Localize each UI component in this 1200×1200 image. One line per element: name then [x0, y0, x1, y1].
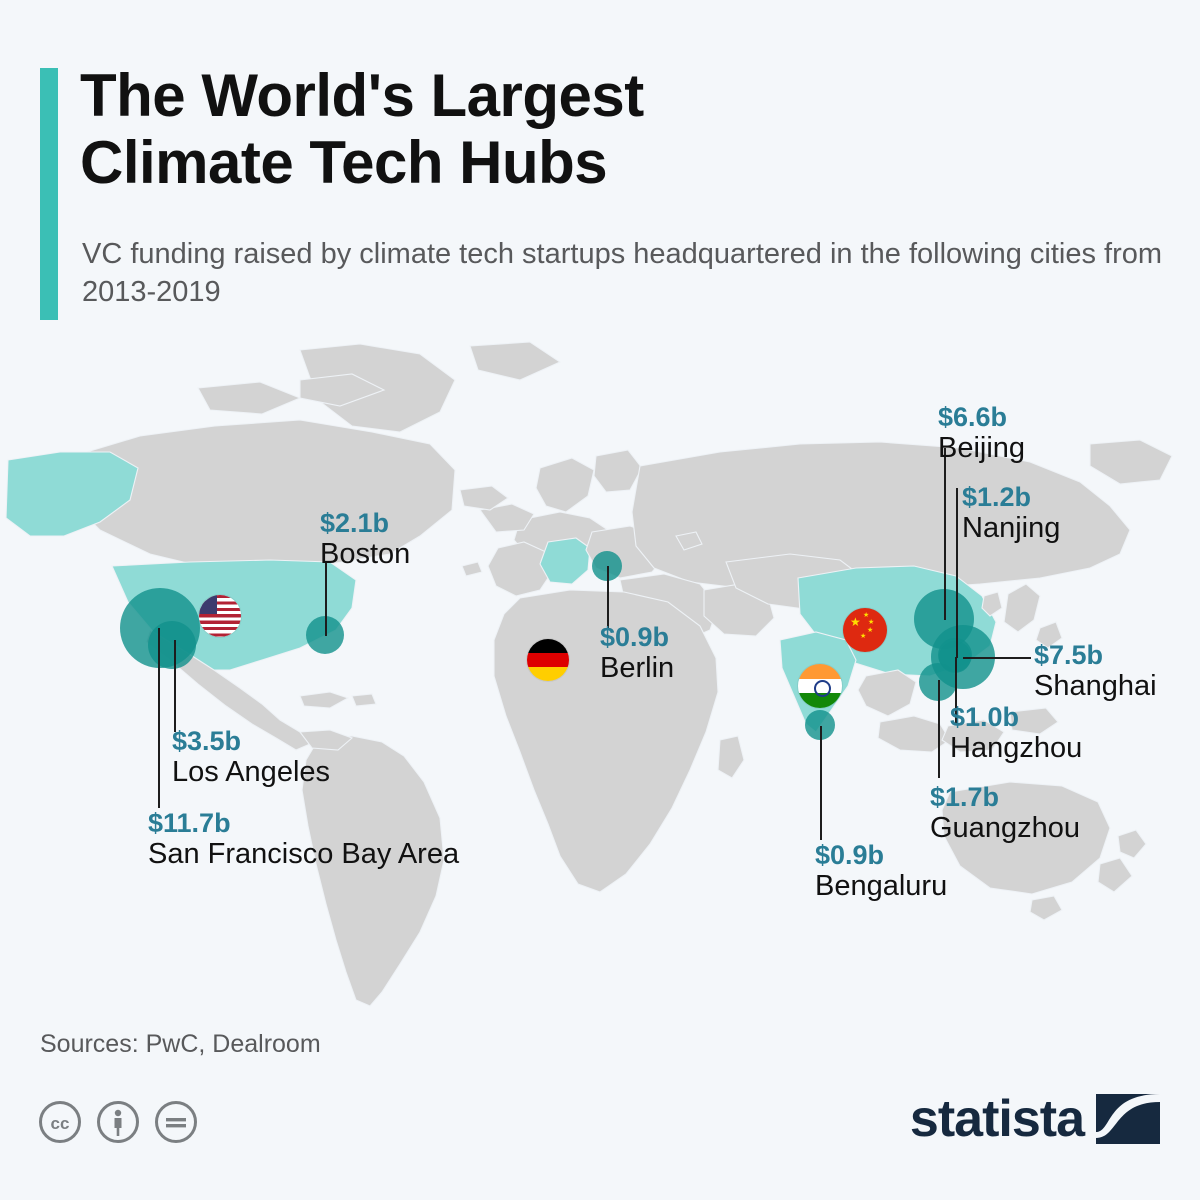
value-san-francisco-bay-area: $11.7b	[148, 808, 459, 838]
title-line-2: Climate Tech Hubs	[80, 129, 1080, 196]
label-hangzhou: $1.0b Hangzhou	[950, 702, 1082, 765]
value-berlin: $0.9b	[600, 622, 674, 652]
sources-text: Sources: PwC, Dealroom	[40, 1030, 321, 1059]
attribution-icon	[96, 1100, 140, 1144]
city-shanghai: Shanghai	[1034, 670, 1157, 702]
de-flag-icon	[527, 639, 569, 681]
title-line-1: The World's Largest	[80, 62, 644, 129]
statista-logo: statista	[910, 1093, 1160, 1145]
page-subtitle: VC funding raised by climate tech startu…	[82, 235, 1162, 312]
leader-line-shanghai	[963, 657, 1031, 659]
value-hangzhou: $1.0b	[950, 702, 1082, 732]
leader-line-boston	[325, 562, 327, 636]
label-san-francisco-bay-area: $11.7b San Francisco Bay Area	[148, 808, 459, 871]
accent-bar	[40, 68, 58, 320]
city-hangzhou: Hangzhou	[950, 732, 1082, 764]
leader-line-beijing	[944, 448, 946, 620]
city-san-francisco-bay-area: San Francisco Bay Area	[148, 838, 459, 870]
value-beijing: $6.6b	[938, 402, 1025, 432]
creative-commons-icon: cc	[38, 1100, 82, 1144]
leader-line-los-angeles	[174, 640, 176, 732]
label-berlin: $0.9b Berlin	[600, 622, 674, 685]
us-flag-icon	[199, 595, 241, 637]
city-beijing: Beijing	[938, 432, 1025, 464]
leader-line-bengaluru	[820, 726, 822, 840]
city-guangzhou: Guangzhou	[930, 812, 1080, 844]
value-boston: $2.1b	[320, 508, 410, 538]
value-nanjing: $1.2b	[962, 482, 1060, 512]
no-derivatives-icon	[154, 1100, 198, 1144]
label-shanghai: $7.5b Shanghai	[1034, 640, 1157, 703]
value-los-angeles: $3.5b	[172, 726, 330, 756]
city-nanjing: Nanjing	[962, 512, 1060, 544]
label-los-angeles: $3.5b Los Angeles	[172, 726, 330, 789]
bubble-los-angeles[interactable]	[148, 621, 196, 669]
value-shanghai: $7.5b	[1034, 640, 1157, 670]
label-guangzhou: $1.7b Guangzhou	[930, 782, 1080, 845]
label-beijing: $6.6b Beijing	[938, 402, 1025, 465]
cn-flag-icon: ★ ★ ★ ★ ★	[843, 608, 887, 652]
leader-line-berlin	[607, 566, 609, 628]
statista-mark-icon	[1096, 1094, 1160, 1144]
svg-text:cc: cc	[51, 1114, 70, 1133]
value-bengaluru: $0.9b	[815, 840, 947, 870]
city-boston: Boston	[320, 538, 410, 570]
license-badges: cc	[38, 1100, 198, 1144]
label-bengaluru: $0.9b Bengaluru	[815, 840, 947, 903]
leader-line-san-francisco	[158, 628, 160, 808]
leader-line-nanjing	[956, 488, 958, 658]
label-nanjing: $1.2b Nanjing	[962, 482, 1060, 545]
page-title: The World's Largest Climate Tech Hubs	[80, 62, 1080, 196]
leader-line-guangzhou	[938, 680, 940, 778]
statista-wordmark: statista	[910, 1093, 1084, 1145]
infographic-root: The World's Largest Climate Tech Hubs VC…	[0, 0, 1200, 1200]
city-berlin: Berlin	[600, 652, 674, 684]
city-los-angeles: Los Angeles	[172, 756, 330, 788]
in-flag-icon	[798, 664, 842, 708]
value-guangzhou: $1.7b	[930, 782, 1080, 812]
label-boston: $2.1b Boston	[320, 508, 410, 571]
city-bengaluru: Bengaluru	[815, 870, 947, 902]
